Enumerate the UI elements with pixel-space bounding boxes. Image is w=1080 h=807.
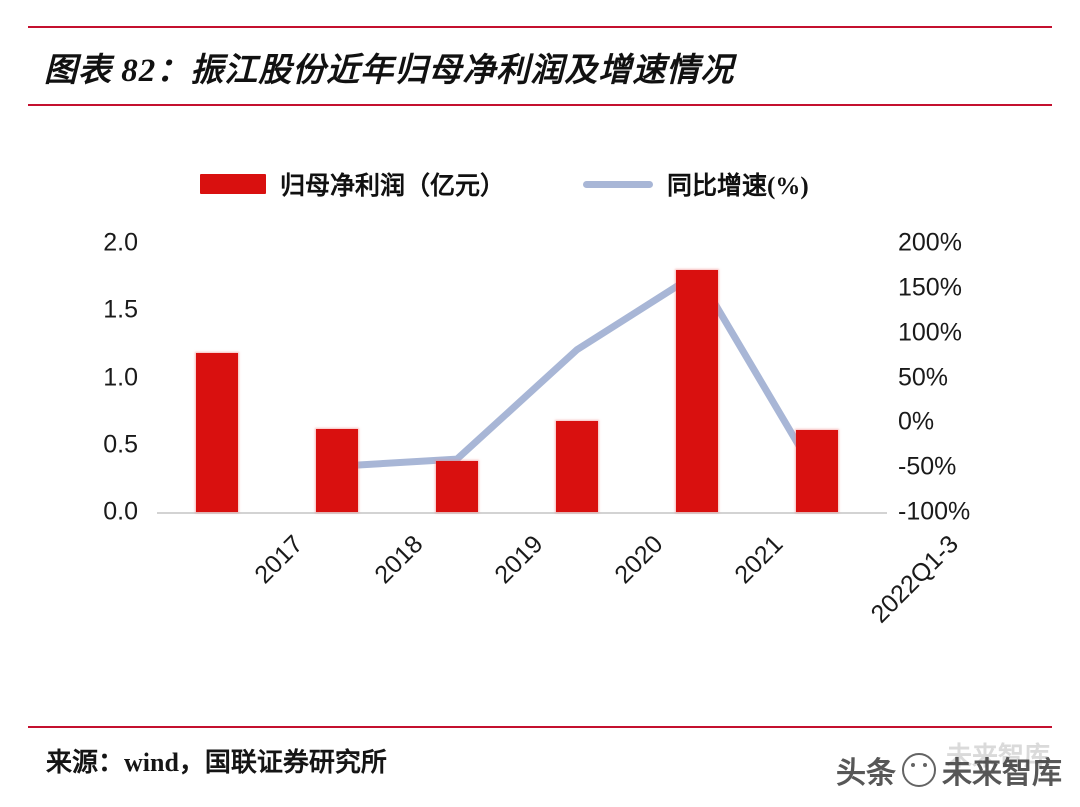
legend-label-growth: 同比增速(%) bbox=[667, 166, 809, 202]
growth-line-series bbox=[157, 243, 877, 512]
x-axis-labels: 201720182019202020212022Q1-3 bbox=[0, 520, 1080, 640]
y-right-tick-50%: 50% bbox=[898, 365, 988, 390]
y-left-tick-1.0: 1.0 bbox=[48, 365, 138, 390]
chart-area: 0.00.51.01.52.0 -100%-50%0%50%100%150%20… bbox=[0, 215, 1080, 645]
smiley-face-icon bbox=[902, 753, 936, 787]
x-axis-line bbox=[157, 512, 887, 514]
source-note: 来源：wind，国联证券研究所 bbox=[46, 742, 387, 779]
y-left-tick-2.0: 2.0 bbox=[48, 231, 138, 256]
bar-2018[interactable] bbox=[316, 429, 358, 512]
legend-bar-swatch-icon bbox=[200, 174, 266, 194]
watermark-toutiao-label: 头条 bbox=[836, 748, 896, 792]
x-tick-2020: 2020 bbox=[609, 530, 669, 590]
bar-2021[interactable] bbox=[676, 270, 718, 512]
plot-area bbox=[157, 243, 877, 512]
y-right-tick-0%: 0% bbox=[898, 410, 988, 435]
legend-item-profit[interactable]: 归母净利润（亿元） bbox=[200, 166, 505, 202]
bar-2019[interactable] bbox=[436, 461, 478, 512]
bar-2022Q1-3[interactable] bbox=[796, 430, 838, 512]
chart-legend: 归母净利润（亿元） 同比增速(%) bbox=[200, 162, 960, 206]
x-tick-2022Q1-3: 2022Q1-3 bbox=[866, 530, 965, 629]
watermark-brand-label: 未来智库 bbox=[942, 748, 1062, 792]
bar-2017[interactable] bbox=[196, 353, 238, 512]
legend-item-growth[interactable]: 同比增速(%) bbox=[583, 166, 809, 202]
y-right-tick--50%: -50% bbox=[898, 455, 988, 480]
page-title: 图表 82：振江股份近年归母净利润及增速情况 bbox=[44, 36, 1024, 98]
legend-line-swatch-icon bbox=[583, 181, 653, 188]
y-left-tick-0.5: 0.5 bbox=[48, 432, 138, 457]
header-rule-top bbox=[28, 26, 1052, 28]
legend-label-profit: 归母净利润（亿元） bbox=[280, 166, 505, 202]
y-right-tick-100%: 100% bbox=[898, 320, 988, 345]
x-tick-2018: 2018 bbox=[369, 530, 429, 590]
x-tick-2017: 2017 bbox=[249, 530, 309, 590]
y-right-tick-200%: 200% bbox=[898, 231, 988, 256]
x-tick-2021: 2021 bbox=[729, 530, 789, 590]
x-tick-2019: 2019 bbox=[489, 530, 549, 590]
bar-2020[interactable] bbox=[556, 421, 598, 512]
footer-rule bbox=[28, 726, 1052, 728]
watermark: 头条 未来智库 bbox=[836, 748, 1062, 792]
y-left-tick-1.5: 1.5 bbox=[48, 298, 138, 323]
header-rule-bottom bbox=[28, 104, 1052, 106]
y-right-tick-150%: 150% bbox=[898, 275, 988, 300]
